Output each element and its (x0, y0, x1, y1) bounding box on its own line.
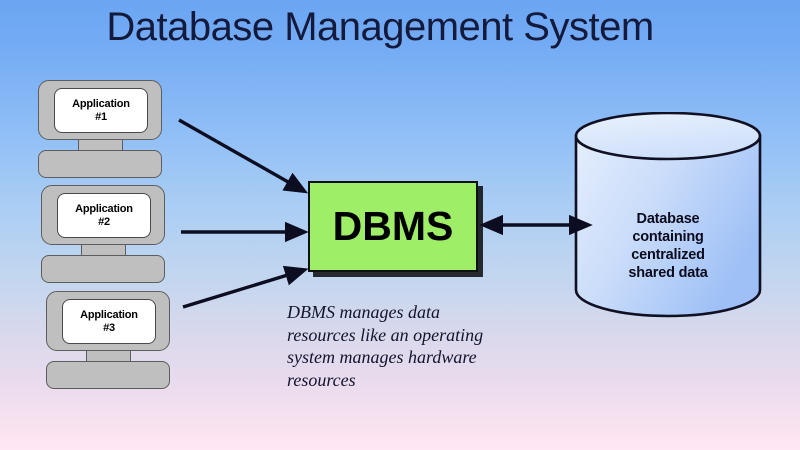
screen-label-line1-app2: Application (75, 203, 133, 215)
monitor-frame-3: Application #3 (46, 291, 170, 351)
computer-application-2: Application #2 (41, 185, 165, 245)
database-label-line1: Database (637, 211, 700, 227)
keyboard-base-1 (38, 150, 162, 178)
monitor-frame-1: Application #1 (38, 80, 162, 140)
caption-line2: resources like an operating (287, 325, 483, 345)
screen-label-line2-app2: #2 (98, 216, 110, 228)
keyboard-base-3 (46, 361, 170, 389)
page-title: Database Management System (0, 4, 760, 50)
screen-application-1: Application #1 (54, 88, 148, 133)
screen-label-line1-app1: Application (72, 98, 130, 110)
arrow-app1-to-dbms (179, 120, 304, 191)
database-label: Database containing centralized shared d… (573, 210, 763, 282)
screen-label-line2-app3: #3 (103, 322, 115, 334)
database-label-line3: centralized (631, 247, 705, 263)
database-cylinder: Database containing centralized shared d… (573, 112, 763, 322)
caption-text: DBMS manages data resources like an oper… (287, 301, 537, 391)
caption-line3: system manages hardware (287, 347, 477, 367)
caption-line4: resources (287, 370, 356, 390)
dbms-box: DBMS (308, 181, 478, 272)
computer-application-1: Application #1 (38, 80, 162, 140)
screen-application-2: Application #2 (57, 193, 151, 238)
screen-label-line2-app1: #1 (95, 111, 107, 123)
arrow-app3-to-dbms (183, 270, 304, 307)
caption-line1: DBMS manages data (287, 302, 440, 322)
database-label-line4: shared data (628, 265, 707, 281)
screen-application-3: Application #3 (62, 299, 156, 344)
computer-application-3: Application #3 (46, 291, 170, 351)
keyboard-base-2 (41, 255, 165, 283)
dbms-label: DBMS (333, 206, 454, 247)
monitor-frame-2: Application #2 (41, 185, 165, 245)
database-label-line2: containing (632, 229, 703, 245)
screen-label-line1-app3: Application (80, 309, 138, 321)
slide-canvas: Database Management System Application #… (0, 0, 800, 450)
